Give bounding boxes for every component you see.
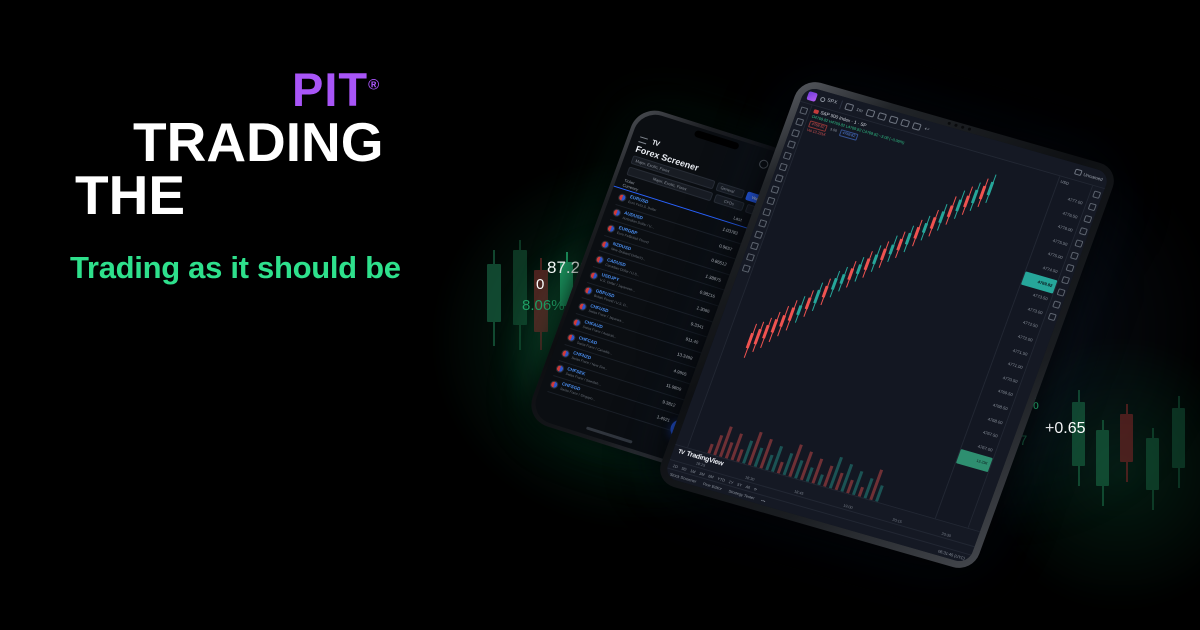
timeframe-3m[interactable]: 3M [699,470,706,476]
candle-type-icon[interactable] [866,108,876,117]
registered-trademark-icon: ® [368,76,380,93]
legend-tag-value: 3.08 [828,126,839,133]
background-candle [1172,396,1185,488]
toolbar-divider [839,100,843,109]
compare-icon[interactable] [912,122,922,131]
headline-block: PIT® TRADING THE Trading as it should be [0,0,520,320]
symbol-search-value: SPX [826,97,838,105]
timeframe-all[interactable]: All [745,484,751,490]
replay-icon[interactable] [900,118,910,127]
ideas-icon[interactable] [1065,264,1074,273]
pattern-icon[interactable] [786,140,795,149]
magnet-icon[interactable] [754,230,763,239]
zoom-icon[interactable] [758,219,767,228]
last-price: 9.3812 [650,395,677,408]
stream-icon[interactable] [1056,288,1065,297]
symbol-search[interactable]: SPX [819,96,837,106]
tab-pine-editor[interactable]: Pine Editor [702,481,723,491]
calendar-icon[interactable] [1069,251,1078,260]
floating-value: 0 [536,276,544,293]
alerts-icon[interactable] [844,102,854,111]
hotlist-icon[interactable] [1074,239,1083,248]
text-icon[interactable] [774,174,783,183]
last-price: 0.9657 [706,239,733,252]
last-price: 1.03782 [712,224,739,237]
alerts-panel-icon[interactable] [1087,203,1096,212]
headline-the: THE [75,168,185,223]
templates-icon[interactable] [889,115,899,124]
flag-icon [600,239,610,249]
more-options-icon[interactable]: ••• [760,498,766,504]
tradingview-logo-icon: TV [677,449,685,456]
flag-icon [572,317,582,327]
timeframe-5y[interactable]: 5Y [737,481,743,487]
price-scale-currency: USD [1060,179,1070,186]
timeframe-1d[interactable]: 1D [672,463,679,469]
floating-value: 8.06% [522,297,565,314]
last-price: 9.3341 [678,317,705,330]
timeframe-6m[interactable]: 6M [708,473,715,479]
last-price: 0.98216 [689,286,716,299]
flag-icon [617,193,627,203]
background-candle [1096,420,1109,506]
background-candle [534,258,548,350]
shapes-icon[interactable] [770,185,779,194]
broadcast-icon[interactable] [1052,300,1061,309]
last-price: 1.38875 [695,270,722,283]
headline-pit: PIT® [292,66,380,113]
chat-icon[interactable] [1061,276,1070,285]
interval-button[interactable]: 1m [856,106,864,112]
fib-icon[interactable] [791,129,800,138]
undo-icon[interactable]: ↩ [923,125,933,134]
flag-icon [566,333,576,343]
refresh-icon[interactable]: ⟳ [753,486,758,492]
app-logo-icon[interactable] [806,91,818,102]
headline-pit-text: PIT [292,63,368,116]
last-price: 4.9905 [661,364,688,377]
promo-banner: 87.2008.06%-0.57+5.60.87%+1.02+0.9+2.892… [0,0,1200,630]
cursor-icon[interactable] [799,106,808,115]
background-candle [1120,404,1133,482]
timeframe-1m[interactable]: 1M [690,468,697,474]
indicators-icon[interactable] [877,112,887,121]
eye-icon[interactable] [745,253,754,262]
trendline-icon[interactable] [795,118,804,127]
flag-icon [555,364,565,374]
prediction-icon[interactable] [782,151,791,160]
floating-value: +0.65 [1045,420,1085,438]
watchlist-icon[interactable] [1092,190,1101,199]
emoji-icon[interactable] [766,197,775,206]
headline-trading: TRADING [133,115,384,170]
symbol-flag-icon [813,109,819,114]
flag-icon [577,302,587,312]
last-price: 11.9809 [655,380,682,393]
last-price: 1.4021 [644,411,671,424]
layout-selector[interactable]: Unnamed [1074,169,1104,183]
flag-icon [560,348,570,358]
data-window-icon[interactable] [1078,227,1087,236]
layout-icon [1074,169,1083,177]
brush-icon[interactable] [778,163,787,172]
notifications-icon[interactable] [1047,312,1056,321]
layout-name: Unnamed [1083,171,1104,181]
last-price: 911.40 [672,333,699,346]
timeframe-5d[interactable]: 5D [681,465,688,471]
timeframe-1y[interactable]: 1Y [728,479,734,485]
home-indicator [586,426,633,443]
lock-icon[interactable] [749,242,758,251]
trash-icon[interactable] [741,264,750,273]
news-icon[interactable] [1083,215,1092,224]
last-price: 0.86512 [701,255,728,268]
flag-icon [589,270,599,280]
search-icon [820,96,827,102]
measure-icon[interactable] [762,208,771,217]
flag-icon [594,255,604,265]
headline-subtitle: Trading as it should be [70,252,401,283]
background-candle [1146,428,1159,510]
last-price: 1.3086 [684,302,711,315]
flag-icon [611,208,621,218]
background-candle [1072,390,1085,486]
flag-icon [583,286,593,296]
flag-icon [606,224,616,234]
flag-icon [549,380,559,390]
last-price: 13.3498 [667,348,694,361]
